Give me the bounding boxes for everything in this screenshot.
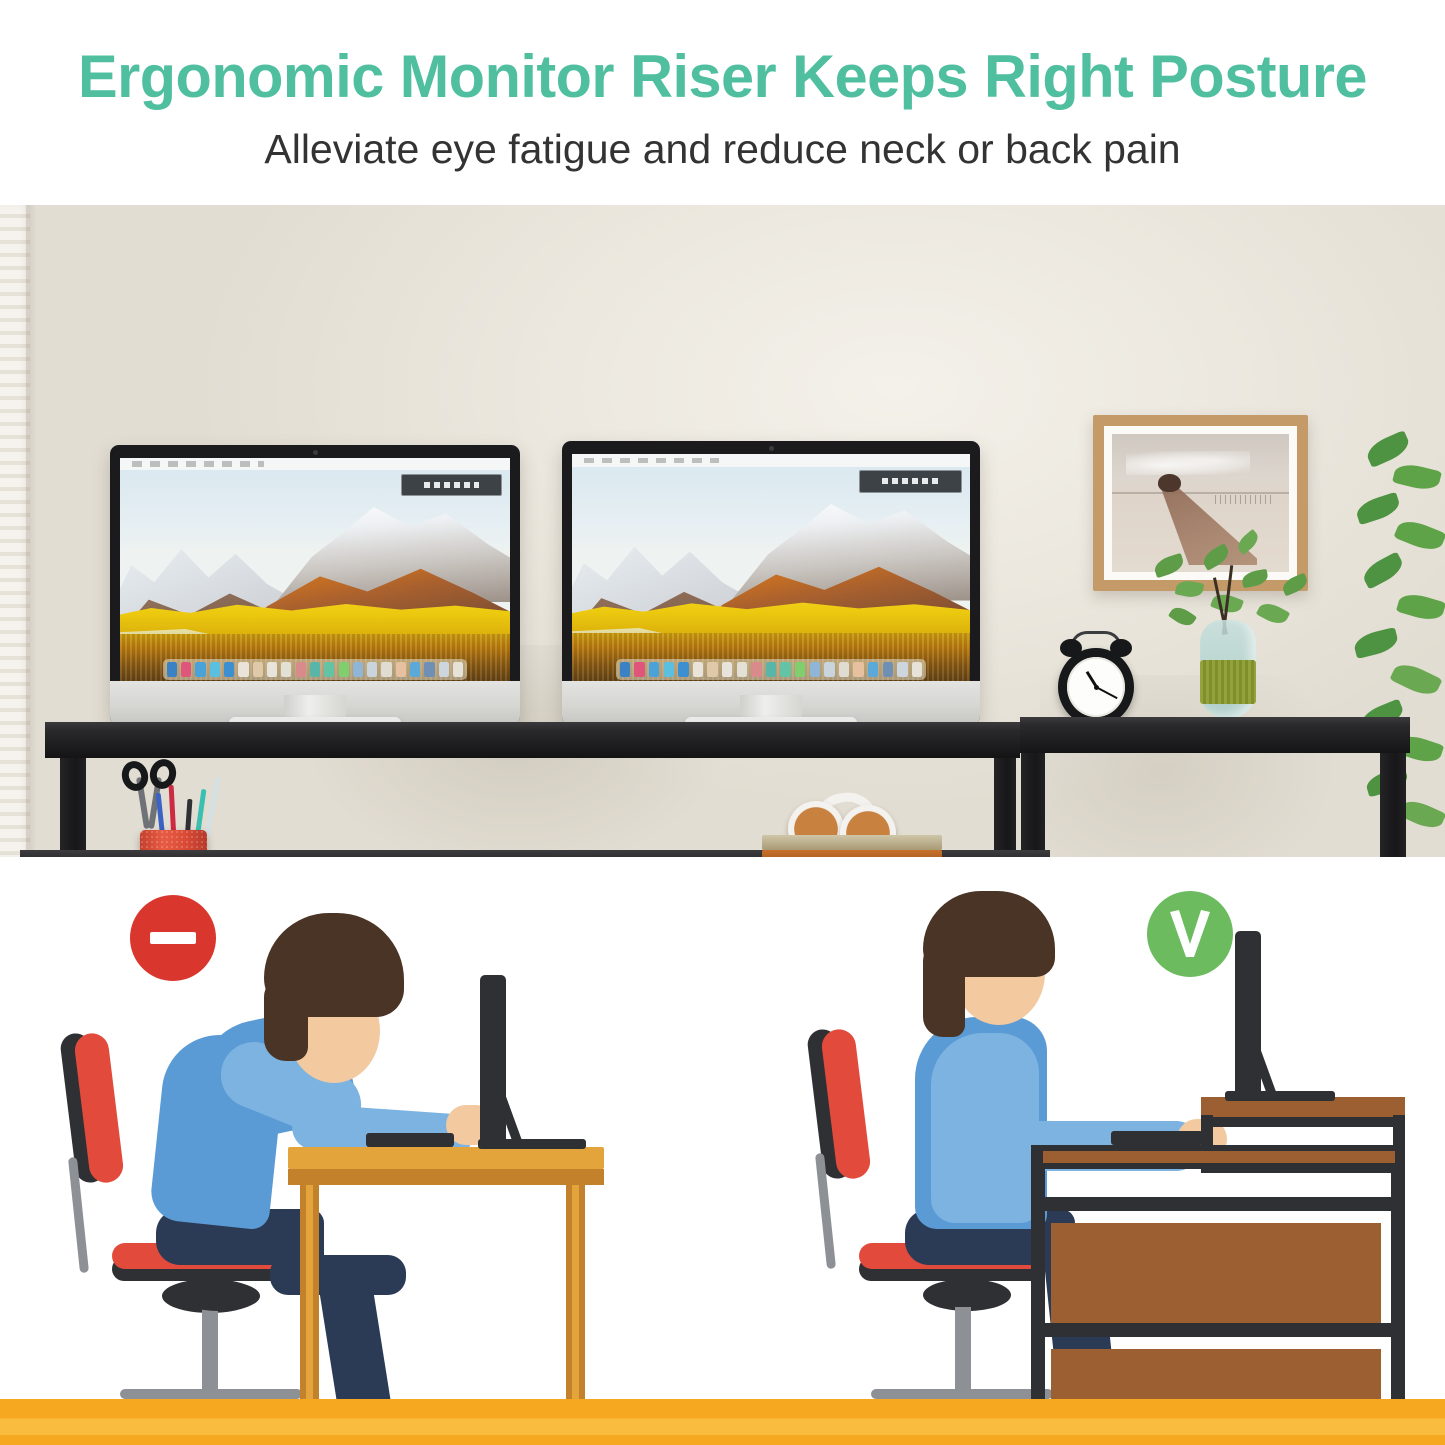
- dock[interactable]: [163, 659, 467, 679]
- monitor-bezel: [562, 441, 980, 725]
- dock-app-icon-19[interactable]: [883, 662, 893, 677]
- book-stack: THRIFT: [762, 835, 942, 857]
- dock-app-icon-17[interactable]: [396, 662, 406, 677]
- dock-app-icon-5[interactable]: [224, 662, 234, 677]
- dock-app-icon-8[interactable]: [267, 662, 277, 677]
- keyboard-illustration-bad: [366, 1133, 454, 1147]
- wallpaper: [572, 454, 970, 683]
- dock-app-icon-12[interactable]: [780, 662, 790, 677]
- dock-app-icon-15[interactable]: [824, 662, 834, 677]
- menu-bar: [120, 458, 510, 470]
- no-entry-icon: [130, 895, 216, 981]
- monitor-illustration-bad: [480, 975, 506, 1145]
- dock-app-icon-8[interactable]: [722, 662, 732, 677]
- dock-app-icon-10[interactable]: [296, 662, 306, 677]
- dock-app-icon-4[interactable]: [210, 662, 220, 677]
- alarm-clock: [1058, 648, 1134, 726]
- dock-app-icon-10[interactable]: [751, 662, 761, 677]
- monitor-right: [562, 441, 980, 725]
- dock-app-icon-12[interactable]: [324, 662, 334, 677]
- monitor-screen-right: [572, 454, 970, 683]
- dock[interactable]: [616, 659, 926, 680]
- webcam-icon: [313, 450, 318, 455]
- dock-app-icon-3[interactable]: [195, 662, 205, 677]
- webcam-icon: [769, 446, 774, 451]
- dock-app-icon-15[interactable]: [367, 662, 377, 677]
- riser-leg: [1021, 753, 1045, 857]
- dock-app-icon-7[interactable]: [253, 662, 263, 677]
- dock-app-icon-20[interactable]: [897, 662, 907, 677]
- dock-app-icon-6[interactable]: [238, 662, 248, 677]
- desk-drawer-upper[interactable]: [1051, 1223, 1381, 1323]
- dock-app-icon-7[interactable]: [707, 662, 717, 677]
- riser-shelf-left: [45, 728, 1020, 758]
- riser-leg: [1380, 753, 1406, 857]
- dock-app-icon-1[interactable]: [167, 662, 177, 677]
- dock-app-icon-16[interactable]: [839, 662, 849, 677]
- dock-app-icon-13[interactable]: [795, 662, 805, 677]
- dock-app-icon-18[interactable]: [410, 662, 420, 677]
- bad-posture-panel: [60, 857, 700, 1445]
- menu-bar: [572, 454, 970, 467]
- wallpaper: [120, 458, 510, 683]
- plain-desk-apron: [288, 1169, 604, 1185]
- monitor-bezel: [110, 445, 520, 725]
- dock-app-icon-4[interactable]: [664, 662, 674, 677]
- dock-app-icon-20[interactable]: [439, 662, 449, 677]
- riser-shelf-right: [1020, 723, 1410, 753]
- riser-leg: [60, 758, 86, 857]
- header-banner: Ergonomic Monitor Riser Keeps Right Post…: [0, 0, 1445, 205]
- dock-app-icon-18[interactable]: [868, 662, 878, 677]
- dock-app-icon-11[interactable]: [310, 662, 320, 677]
- dock-app-icon-17[interactable]: [853, 662, 863, 677]
- dock-app-icon-19[interactable]: [424, 662, 434, 677]
- keyboard-illustration-good: [1111, 1131, 1203, 1145]
- dock-app-icon-3[interactable]: [649, 662, 659, 677]
- good-posture-panel: [805, 857, 1445, 1445]
- clock-bell-left: [1060, 639, 1082, 657]
- dock-app-icon-21[interactable]: [912, 662, 922, 677]
- posture-comparison-illustration: [0, 857, 1445, 1445]
- monitor-illustration-good: [1235, 931, 1261, 1099]
- dock-app-icon-2[interactable]: [181, 662, 191, 677]
- clock-bell-right: [1110, 639, 1132, 657]
- dock-app-icon-2[interactable]: [634, 662, 644, 677]
- dock-app-icon-6[interactable]: [693, 662, 703, 677]
- dock-app-icon-21[interactable]: [453, 662, 463, 677]
- product-photo: THRIFT EPSON EPSON: [0, 205, 1445, 857]
- desktop-widget: [859, 470, 962, 493]
- page-subtitle: Alleviate eye fatigue and reduce neck or…: [0, 126, 1445, 173]
- window-curtain: [0, 205, 30, 857]
- dock-app-icon-9[interactable]: [281, 662, 291, 677]
- dock-app-icon-13[interactable]: [339, 662, 349, 677]
- clock-face: [1067, 657, 1125, 717]
- monitor-left: [110, 445, 520, 725]
- vase-woven-wrap: [1200, 660, 1256, 704]
- dock-app-icon-11[interactable]: [766, 662, 776, 677]
- dock-app-icon-5[interactable]: [678, 662, 688, 677]
- page-title: Ergonomic Monitor Riser Keeps Right Post…: [7, 42, 1438, 111]
- dock-app-icon-1[interactable]: [620, 662, 630, 677]
- dock-app-icon-16[interactable]: [381, 662, 391, 677]
- monitor-screen-left: [120, 458, 510, 683]
- dock-app-icon-14[interactable]: [810, 662, 820, 677]
- floor-bar: [0, 1399, 1445, 1445]
- check-v-icon: [1147, 891, 1233, 977]
- plain-desk-top: [288, 1147, 604, 1169]
- riser-leg: [994, 758, 1016, 857]
- desktop-widget: [401, 474, 502, 497]
- dock-app-icon-9[interactable]: [737, 662, 747, 677]
- dock-app-icon-14[interactable]: [353, 662, 363, 677]
